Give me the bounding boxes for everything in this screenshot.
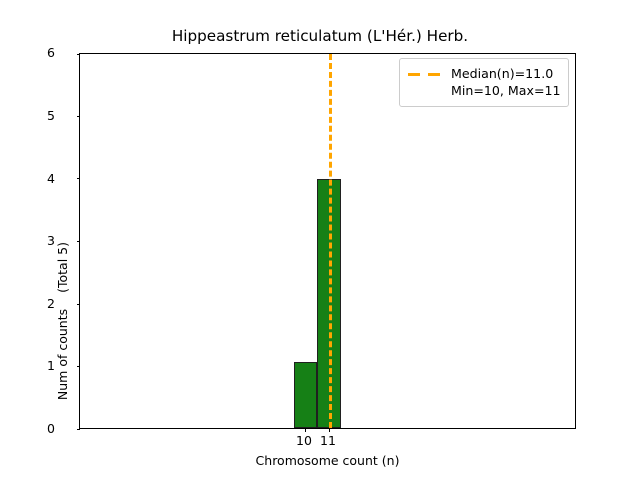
xtick-mark-11	[329, 428, 330, 432]
ytick-mark-0	[77, 429, 81, 430]
xtick-label-11: 11	[308, 434, 348, 447]
legend-item-minmax: Min=10, Max=11	[408, 82, 560, 99]
median-line	[329, 54, 332, 428]
x-axis-label: Chromosome count (n)	[79, 453, 576, 468]
page-title: Hippeastrum reticulatum (L'Hér.) Herb.	[0, 27, 640, 45]
y-axis-label: Num of counts(Total 5)	[42, 54, 60, 430]
legend: Median(n)=11.0 Min=10, Max=11	[399, 58, 569, 107]
plot-area: Num of counts(Total 5)	[79, 53, 576, 429]
y-axis-label-text: Num of counts	[55, 309, 70, 400]
legend-label-median: Median(n)=11.0	[451, 66, 553, 81]
bar-10	[294, 362, 317, 428]
data-series-bars	[80, 54, 575, 428]
legend-item-median: Median(n)=11.0	[408, 65, 560, 82]
legend-label-minmax: Min=10, Max=11	[451, 83, 561, 98]
dashed-line-icon	[408, 68, 442, 80]
histogram-figure: Hippeastrum reticulatum (L'Hér.) Herb. 0…	[0, 0, 640, 480]
y-axis-label-note: (Total 5)	[55, 242, 70, 309]
xtick-mark-10	[305, 428, 306, 432]
